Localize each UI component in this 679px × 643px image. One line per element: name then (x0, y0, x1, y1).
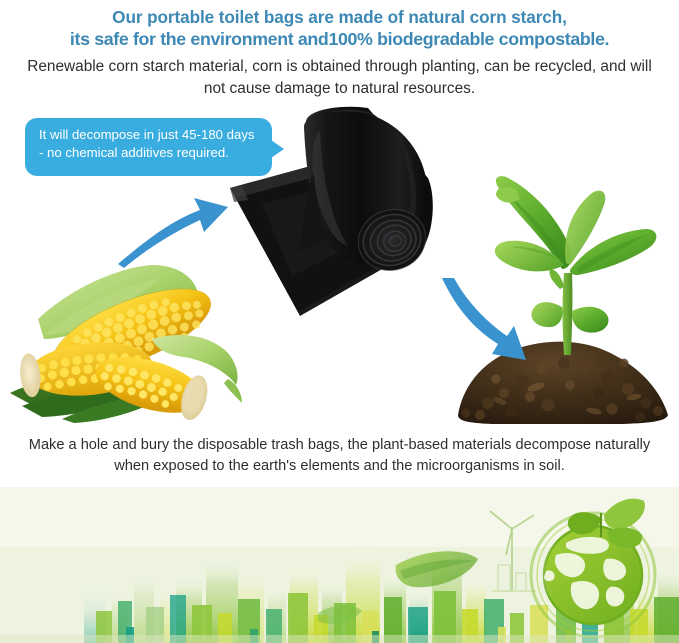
eco-banner-artwork (0, 487, 679, 643)
decompose-callout-bubble: It will decompose in just 45-180 days - … (25, 118, 272, 176)
product-infographic: Our portable toilet bags are made of nat… (0, 0, 679, 643)
intro-paragraph: Renewable corn starch material, corn is … (24, 56, 655, 100)
callout-text: It will decompose in just 45-180 days - … (39, 127, 255, 160)
bottom-caption: Make a hole and bury the disposable tras… (20, 435, 659, 477)
eco-banner: Eco-Friendly,Protect Environment (0, 487, 679, 643)
headline-line-2: its safe for the environment and100% bio… (0, 28, 679, 51)
page-headline: Our portable toilet bags are made of nat… (0, 6, 679, 51)
headline-line-1: Our portable toilet bags are made of nat… (0, 6, 679, 28)
callout-bubble-tail (271, 140, 284, 158)
curved-arrow-corn-to-bag (108, 182, 240, 274)
curved-arrow-bag-to-soil (428, 276, 560, 368)
